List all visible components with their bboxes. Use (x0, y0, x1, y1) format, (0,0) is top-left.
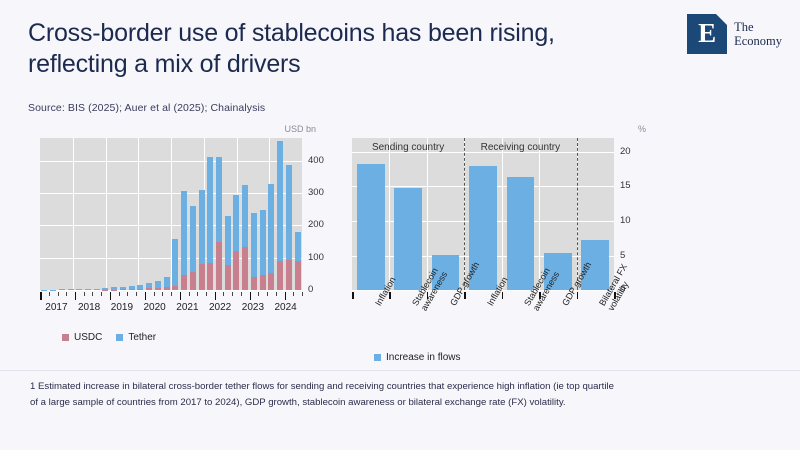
left-chart-x-tick-minor (119, 292, 120, 296)
left-chart-bar (260, 210, 266, 290)
left-chart-bar-segment-tether (85, 289, 91, 290)
left-chart-bar-segment-usdc (277, 261, 283, 290)
left-chart-bar-segment-usdc (190, 272, 196, 290)
left-chart-gridline-v (73, 138, 74, 290)
chart-drivers-of-flows: % 05101520 InflationStablecoinawarenessG… (340, 124, 650, 364)
left-chart-bar-segment-usdc (164, 287, 170, 290)
right-chart-y-tick-label: 15 (620, 180, 631, 191)
left-chart-bar-segment-tether (181, 191, 187, 275)
left-chart-bar (225, 216, 231, 290)
left-chart-bar (164, 276, 170, 290)
source-note: Source: BIS (2025); Auer et al (2025); C… (28, 102, 265, 114)
left-chart-gridline-v (138, 138, 139, 290)
right-chart-gridline-v (427, 138, 428, 290)
left-chart-bar (286, 165, 292, 290)
left-chart-x-tick-minor (197, 292, 198, 296)
left-chart-bar-segment-tether (59, 289, 65, 290)
left-chart-bar-segment-tether (260, 210, 266, 276)
left-chart-legend-label: Tether (128, 332, 156, 343)
right-chart-group-divider (464, 138, 465, 290)
left-chart-x-tick-minor (154, 292, 155, 296)
left-chart-bar-segment-tether (268, 184, 274, 273)
left-chart-bar (120, 287, 126, 290)
left-chart-bar-segment-tether (286, 165, 292, 260)
left-chart-bar-segment-tether (120, 287, 126, 290)
left-chart-bar (242, 185, 248, 290)
left-chart-x-tick-minor (127, 292, 128, 296)
left-chart-x-tick-minor (162, 292, 163, 296)
left-chart-x-tick-minor (258, 292, 259, 296)
left-chart-bar-segment-usdc (120, 289, 126, 290)
left-chart-bar-segment-usdc (242, 247, 248, 290)
right-chart-plot-area (352, 138, 614, 290)
left-chart-bar (68, 289, 74, 290)
left-chart-x-tick-label: 2020 (137, 302, 173, 313)
right-chart-group-label: Receiving country (465, 142, 575, 153)
left-chart-bar-segment-tether (225, 216, 231, 265)
right-chart-gridline-v (539, 138, 540, 290)
left-chart-bar-segment-tether (129, 286, 135, 289)
left-chart-x-tick-minor (293, 292, 294, 296)
footnote-line-1: 1 Estimated increase in bilateral cross-… (30, 379, 776, 395)
title-line-1: Cross-border use of stablecoins has been… (28, 19, 555, 47)
left-chart-x-tick-minor (101, 292, 102, 296)
left-chart-legend-item: Tether (116, 332, 156, 343)
left-chart-bar (155, 281, 161, 290)
left-chart-bar-segment-tether (242, 185, 248, 247)
left-chart-bar (172, 239, 178, 290)
left-chart-bar-segment-tether (164, 277, 170, 287)
left-chart-x-tick-minor (84, 292, 85, 296)
left-chart-bar (181, 191, 187, 290)
footnote: 1 Estimated increase in bilateral cross-… (30, 379, 776, 410)
left-chart-legend: USDCTether (62, 332, 156, 343)
left-chart-y-tick-label: 300 (308, 187, 324, 198)
left-chart-bar-segment-usdc (286, 260, 292, 290)
left-chart-bar-segment-tether (137, 285, 143, 289)
title-line-2: reflecting a mix of drivers (28, 49, 648, 80)
left-chart-x-tick-minor (267, 292, 268, 296)
left-chart-x-tick-minor (92, 292, 93, 296)
logo-letter: E (698, 20, 716, 47)
left-chart-x-tick-label: 2022 (202, 302, 238, 313)
left-chart-bar-segment-tether (295, 232, 301, 261)
left-chart-bar-segment-usdc (268, 273, 274, 290)
left-chart-x-tick-major (145, 292, 147, 300)
left-chart-bar (216, 157, 222, 290)
page-title: Cross-border use of stablecoins has been… (28, 18, 648, 80)
right-chart-unit-label: % (638, 124, 646, 134)
left-chart-bar-segment-tether (68, 289, 74, 290)
right-chart-group-label: Sending country (353, 142, 463, 153)
left-chart-x-tick-minor (189, 292, 190, 296)
left-chart-x-tick-major (40, 292, 42, 300)
left-chart-x-tick-minor (171, 292, 172, 296)
left-chart-x-tick-minor (206, 292, 207, 296)
left-chart-x-tick-label: 2024 (268, 302, 304, 313)
left-chart-bar (277, 141, 283, 290)
left-chart-bar-segment-tether (216, 157, 222, 241)
left-chart-bar-segment-tether (102, 288, 108, 290)
left-chart-bar-segment-tether (277, 141, 283, 261)
left-chart-bar-segment-tether (172, 239, 178, 286)
left-chart-bar-segment-usdc (225, 265, 231, 290)
left-chart-gridline-h (40, 290, 302, 291)
right-chart-gridline-v (389, 138, 390, 290)
left-chart-bar-segment-tether (146, 283, 152, 288)
right-chart-legend: Increase in flows (374, 352, 460, 363)
brand-logo: E The Economy (687, 14, 782, 54)
left-chart-bar (129, 286, 135, 290)
left-chart-bar-segment-usdc (155, 288, 161, 290)
left-chart-bar-segment-tether (94, 289, 100, 290)
right-chart-group-divider (577, 138, 578, 290)
left-chart-x-tick-label: 2018 (71, 302, 107, 313)
left-chart-bar (190, 206, 196, 290)
left-chart-bar (59, 289, 65, 290)
logo-wordmark-line-2: Economy (734, 34, 782, 48)
left-chart-bar (85, 289, 91, 290)
left-chart-x-tick-major (110, 292, 112, 300)
right-chart-gridline-v (502, 138, 503, 290)
left-chart-x-tick-major (285, 292, 287, 300)
left-chart-bar (251, 213, 257, 290)
left-chart-bar-segment-usdc (199, 264, 205, 290)
left-chart-x-tick-minor (276, 292, 277, 296)
left-chart-x-tick-major (215, 292, 217, 300)
left-chart-bar-segment-usdc (216, 242, 222, 291)
left-chart-bar (137, 285, 143, 290)
left-chart-bar-segment-usdc (146, 288, 152, 290)
left-chart-bar-segment-usdc (137, 289, 143, 290)
left-chart-bar (295, 232, 301, 290)
left-chart-x-tick-major (180, 292, 182, 300)
left-chart-bar-segment-usdc (260, 275, 266, 290)
left-chart-bar (207, 157, 213, 290)
left-chart-bar-segment-usdc (172, 286, 178, 291)
left-chart-bar-segment-tether (199, 190, 205, 264)
left-chart-bar (233, 195, 239, 290)
logo-wordmark-line-1: The (734, 20, 782, 34)
logo-wordmark: The Economy (734, 20, 782, 48)
left-chart-bar (76, 289, 82, 290)
right-chart-legend-label: Increase in flows (386, 352, 460, 363)
left-chart-y-tick-label: 0 (308, 284, 313, 295)
right-chart-bar (357, 164, 385, 290)
left-chart-bar-segment-tether (251, 213, 257, 277)
footnote-divider (0, 370, 800, 371)
left-chart-bar-segment-tether (233, 195, 239, 252)
left-chart-x-tick-minor (223, 292, 224, 296)
left-chart-bar (199, 190, 205, 290)
left-chart-bar-segment-tether (155, 281, 161, 288)
left-chart-x-tick-label: 2017 (38, 302, 74, 313)
left-chart-bar-segment-usdc (251, 277, 257, 290)
left-chart-unit-label: USD bn (284, 124, 316, 134)
left-chart-bar-segment-tether (111, 287, 117, 289)
left-chart-bar (146, 283, 152, 290)
left-chart-plot-area (40, 138, 302, 290)
left-chart-gridline-v (106, 138, 107, 290)
left-chart-x-tick-label: 2019 (104, 302, 140, 313)
left-chart-x-tick-major (75, 292, 77, 300)
left-chart-x-tick-minor (49, 292, 50, 296)
logo-mark-icon: E (687, 14, 727, 54)
left-chart-x-tick-major (250, 292, 252, 300)
left-chart-bar-segment-usdc (181, 275, 187, 290)
left-chart-bar-segment-tether (190, 206, 196, 272)
left-chart-x-tick-minor (302, 292, 303, 296)
left-chart-bar-segment-usdc (233, 251, 239, 290)
left-chart-y-tick-label: 400 (308, 155, 324, 166)
left-chart-y-tick-label: 200 (308, 219, 324, 230)
left-chart-legend-item: USDC (62, 332, 102, 343)
right-chart-bar (394, 188, 422, 290)
left-chart-bar (268, 184, 274, 290)
left-chart-x-tick-minor (58, 292, 59, 296)
left-chart-bar (94, 289, 100, 290)
left-chart-legend-label: USDC (74, 332, 102, 343)
right-chart-legend-item: Increase in flows (374, 352, 460, 363)
slide: Cross-border use of stablecoins has been… (0, 0, 800, 450)
left-chart-x-tick-label: 2023 (235, 302, 271, 313)
right-chart-x-tick (352, 292, 354, 299)
left-chart-bar (102, 288, 108, 290)
legend-swatch-icon (62, 334, 69, 341)
left-chart-bar-segment-tether (76, 289, 82, 290)
left-chart-bar-segment-tether (207, 157, 213, 262)
left-chart-x-tick-minor (136, 292, 137, 296)
legend-swatch-icon (116, 334, 123, 341)
left-chart-bar-segment-usdc (295, 261, 301, 290)
left-chart-x-tick-label: 2021 (169, 302, 205, 313)
left-chart-x-tick-minor (66, 292, 67, 296)
logo-fold-icon (716, 14, 727, 25)
right-chart-y-tick-label: 20 (620, 146, 631, 157)
left-chart-bar-segment-usdc (129, 289, 135, 290)
left-chart-x-tick-minor (232, 292, 233, 296)
chart-stablecoin-volume: USD bn 0100200300400 2017201820192020202… (28, 124, 338, 354)
legend-swatch-icon (374, 354, 381, 361)
left-chart-y-tick-label: 100 (308, 252, 324, 263)
left-chart-bar (111, 287, 117, 290)
right-chart-y-tick-label: 5 (620, 250, 625, 261)
footnote-line-2: of a large sample of countries from 2017… (30, 395, 776, 411)
right-chart-bar (507, 177, 535, 290)
left-chart-x-tick-minor (241, 292, 242, 296)
right-chart-y-tick-label: 10 (620, 215, 631, 226)
left-chart-bar-segment-usdc (207, 263, 213, 291)
